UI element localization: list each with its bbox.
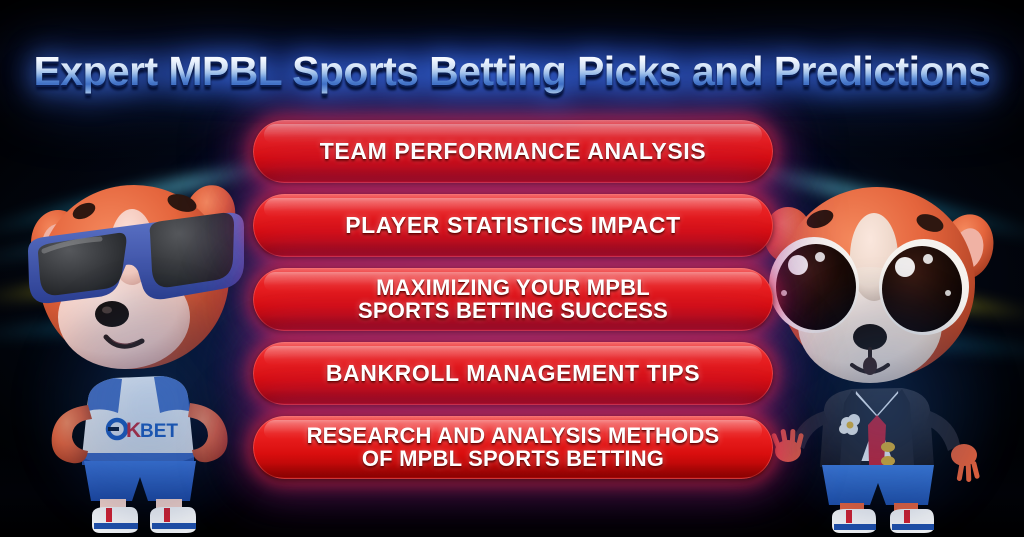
promo-banner: K BET — [0, 0, 1024, 537]
topic-button-label: TEAM PERFORMANCE ANALYSIS — [320, 140, 706, 163]
topic-button-maximizing-your-mpbl-sports-betting-success[interactable]: MAXIMIZING YOUR MPBL SPORTS BETTING SUCC… — [253, 268, 773, 331]
topic-button-label: RESEARCH AND ANALYSIS METHODS OF MPBL SP… — [307, 425, 720, 470]
mascot-right-glow — [768, 281, 998, 531]
topic-button-list: TEAM PERFORMANCE ANALYSIS PLAYER STATIST… — [253, 120, 773, 479]
page-title-wrap: Expert MPBL Sports Betting Picks and Pre… — [0, 22, 1024, 121]
topic-button-bankroll-management-tips[interactable]: BANKROLL MANAGEMENT TIPS — [253, 342, 773, 405]
topic-button-research-and-analysis-methods[interactable]: RESEARCH AND ANALYSIS METHODS OF MPBL SP… — [253, 416, 773, 479]
topic-button-label: PLAYER STATISTICS IMPACT — [345, 214, 681, 237]
mascot-right — [752, 165, 1014, 537]
topic-button-player-statistics-impact[interactable]: PLAYER STATISTICS IMPACT — [253, 194, 773, 257]
page-title: Expert MPBL Sports Betting Picks and Pre… — [34, 49, 991, 93]
topic-button-label: MAXIMIZING YOUR MPBL SPORTS BETTING SUCC… — [358, 277, 668, 322]
mascot-left-glow — [35, 281, 265, 531]
mascot-left: K BET — [14, 167, 286, 537]
topic-button-label: BANKROLL MANAGEMENT TIPS — [326, 362, 700, 385]
topic-button-team-performance-analysis[interactable]: TEAM PERFORMANCE ANALYSIS — [253, 120, 773, 183]
